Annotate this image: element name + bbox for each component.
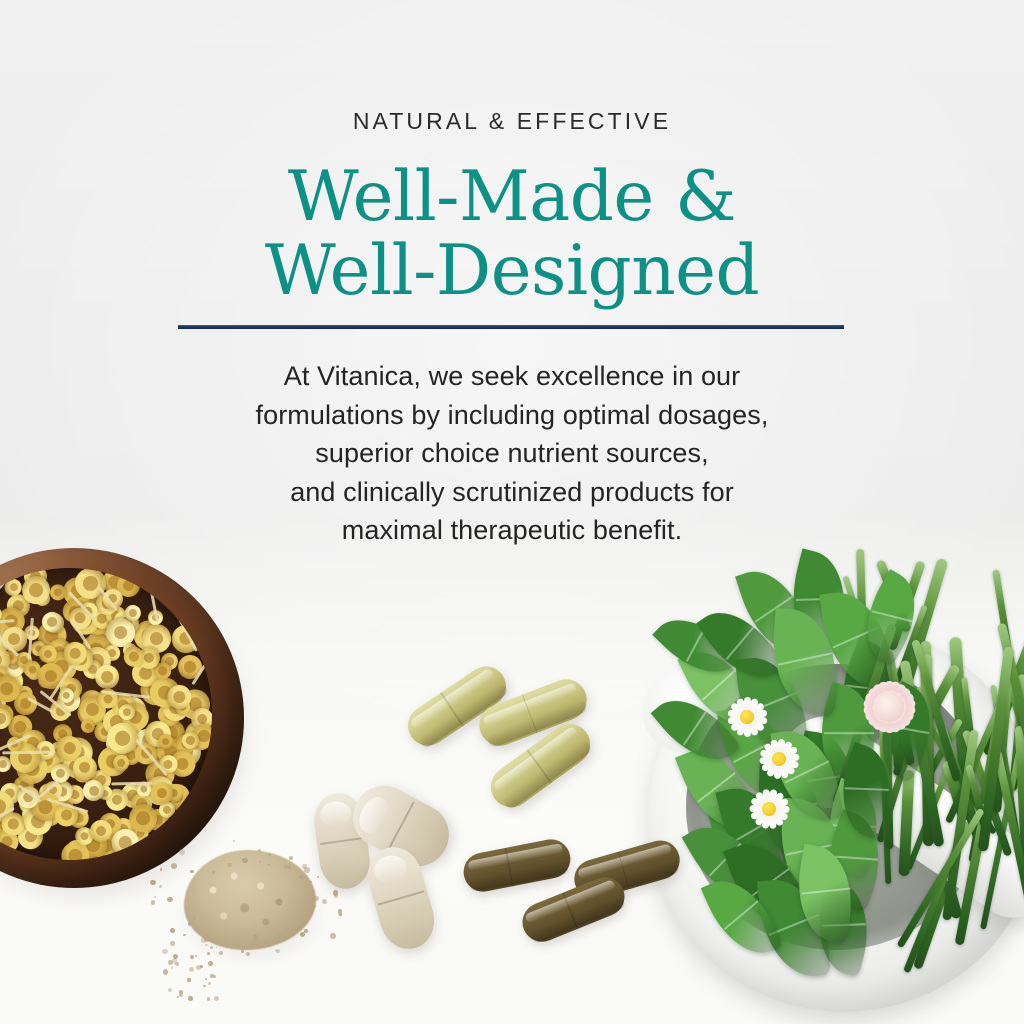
page-title: Well-Made & Well-Designed — [0, 160, 1024, 308]
body-line-5: maximal therapeutic benefit. — [0, 511, 1024, 550]
body-paragraph: At Vitanica, we seek excellence in our f… — [0, 357, 1024, 550]
text-block: NATURAL & EFFECTIVE Well-Made & Well-Des… — [0, 0, 1024, 560]
headline-line-1: Well-Made & — [0, 160, 1024, 234]
promo-banner: NATURAL & EFFECTIVE Well-Made & Well-Des… — [0, 0, 1024, 1024]
body-line-3: superior choice nutrient sources, — [0, 434, 1024, 473]
divider-rule — [178, 325, 844, 329]
body-line-1: At Vitanica, we seek excellence in our — [0, 357, 1024, 396]
brown-capsule — [517, 871, 631, 947]
brown-capsule — [460, 836, 573, 895]
eyebrow-text: NATURAL & EFFECTIVE — [0, 108, 1024, 135]
body-line-4: and clinically scrutinized products for — [0, 473, 1024, 512]
body-line-2: formulations by including optimal dosage… — [0, 396, 1024, 435]
headline-line-2: Well-Designed — [0, 234, 1024, 308]
